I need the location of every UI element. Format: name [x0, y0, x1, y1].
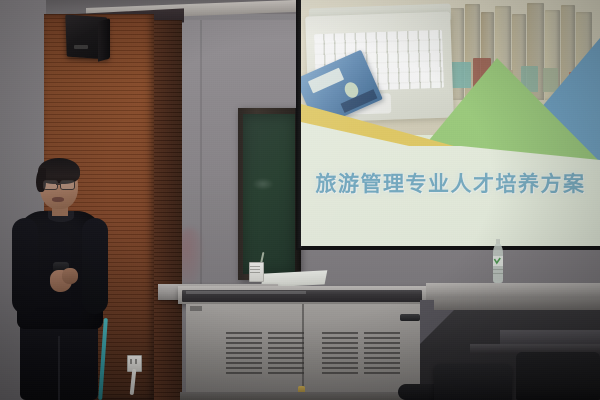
lectern-rail-highlight — [186, 291, 306, 294]
eyeglasses-bridge — [56, 183, 61, 185]
wooden-pillar-side — [154, 20, 182, 400]
lectern-badge — [400, 314, 420, 321]
speaker-badge — [74, 45, 88, 49]
floor — [180, 392, 430, 400]
receiver-display — [250, 266, 260, 275]
water-bottle — [491, 239, 505, 284]
eyeglasses-right-lens-icon — [60, 180, 75, 190]
projection-screen: 旅游管理专业人才培养方案 — [301, 0, 600, 246]
presenter-mouth — [52, 197, 64, 202]
lectern-vent — [364, 332, 400, 374]
side-desk-front — [434, 298, 600, 310]
slide-title: 旅游管理专业人才培养方案 — [301, 168, 600, 198]
wall-seam — [200, 20, 202, 320]
slide-geometry — [301, 0, 600, 246]
presenter-left-arm — [12, 218, 38, 314]
lectern-vent — [268, 332, 304, 374]
chair-back-right — [516, 352, 600, 400]
presenter-hand-right — [62, 268, 78, 284]
classroom-photo: 旅游管理专业人才培养方案 — [0, 0, 600, 400]
lectern-logo — [190, 306, 202, 311]
speaker-side — [98, 18, 110, 61]
outlet-slot-right — [135, 359, 137, 364]
chalk-marks — [252, 178, 274, 190]
presenter-leg-seam — [58, 336, 60, 400]
lectern-vent — [322, 332, 358, 374]
eyeglasses-left-lens-icon — [43, 180, 58, 190]
presenter-right-arm — [82, 218, 108, 314]
outlet-slot-left — [130, 359, 132, 364]
green-chalkboard — [243, 114, 295, 274]
chair-back-left — [434, 364, 512, 400]
lectern-vent — [226, 332, 262, 374]
